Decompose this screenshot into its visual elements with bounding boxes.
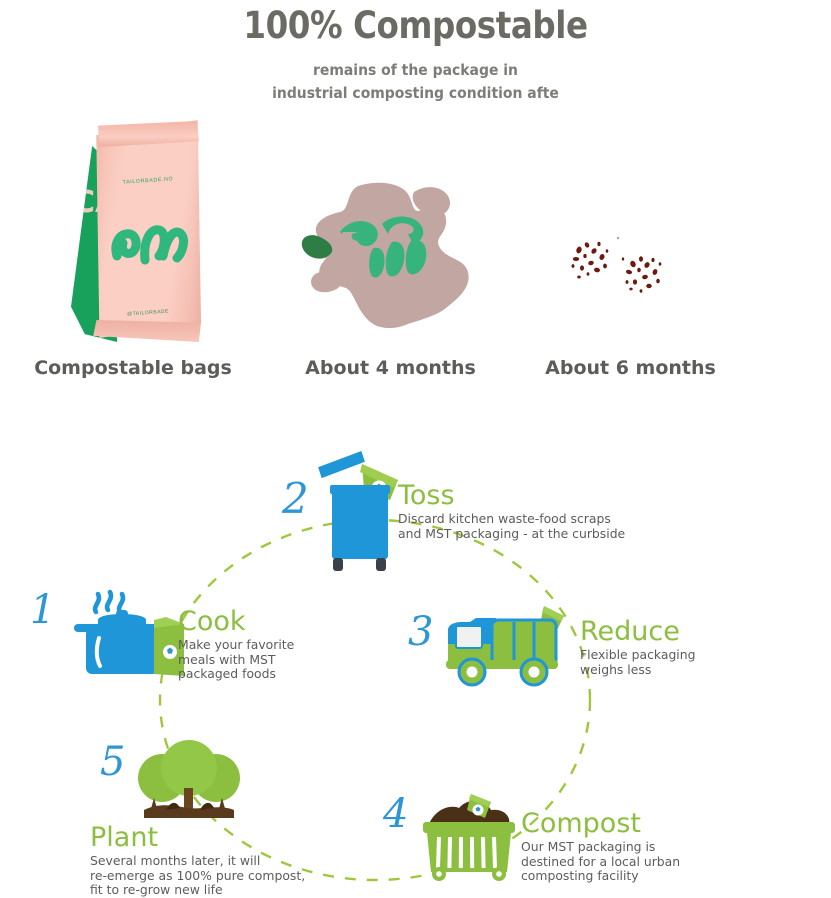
step-number-compost: 4 [383, 794, 408, 834]
stage-six-months: About 6 months [508, 118, 753, 350]
step-text-compost: Compost Our MST packaging is destined fo… [521, 810, 751, 884]
stage-compostable-bag: CARE TAILORBADE.NO @TAILORBADE Compostab… [8, 118, 258, 350]
subtitle-line-1: remains of the package in [42, 59, 790, 82]
step-body-toss: Discard kitchen waste-food scraps and MS… [398, 512, 728, 541]
page-title: 100% Compostable [50, 0, 781, 47]
step-heading-plant: Plant [90, 824, 380, 852]
compostable-bag-icon: CARE TAILORBADE.NO @TAILORBADE [71, 120, 201, 348]
step-heading-compost: Compost [521, 810, 751, 838]
step-number-reduce: 3 [408, 612, 433, 652]
trees-icon [136, 738, 242, 824]
cooking-pot-icon [50, 584, 190, 680]
compost-bin-icon [415, 790, 523, 886]
stage-label-bag: Compostable bags [34, 357, 232, 379]
step-body-compost: Our MST packaging is destined for a loca… [521, 840, 751, 884]
step-heading-cook: Cook [178, 608, 358, 636]
garbage-truck-icon [440, 600, 576, 690]
stage-art-four-months [268, 118, 513, 350]
stage-four-months: About 4 months [268, 118, 513, 350]
header: 100% Compostable remains of the package … [0, 0, 831, 105]
trash-bin-icon [306, 440, 412, 575]
step-text-plant: Plant Several months later, it will re-e… [90, 824, 380, 898]
lifecycle-diagram: 2 Toss Discard kitchen waste-food scraps… [0, 398, 831, 894]
stage-label-wrap-4mo: About 4 months [268, 357, 513, 379]
decomposing-fragments-icon [296, 180, 486, 335]
step-heading-toss: Toss [398, 482, 728, 510]
compost-specks-icon [561, 226, 701, 316]
decomposition-stage-row: CARE TAILORBADE.NO @TAILORBADE Compostab… [0, 118, 831, 393]
stage-label-wrap-6mo: About 6 months [508, 357, 753, 379]
stage-label-six-months: About 6 months [545, 357, 716, 379]
stage-label-four-months: About 4 months [305, 357, 476, 379]
step-heading-reduce: Reduce [580, 618, 760, 646]
stage-label-wrap-bag: Compostable bags [8, 357, 258, 379]
step-text-reduce: Reduce Flexible packaging weighs less [580, 618, 760, 677]
stage-art-six-months [508, 118, 753, 350]
step-body-reduce: Flexible packaging weighs less [580, 648, 760, 677]
step-number-plant: 5 [100, 742, 125, 782]
step-body-cook: Make your favorite meals with MST packag… [178, 638, 358, 682]
step-number-toss: 2 [282, 478, 309, 520]
step-body-plant: Several months later, it will re-emerge … [90, 854, 380, 898]
bag-logo-mark [107, 212, 191, 272]
stage-art-bag: CARE TAILORBADE.NO @TAILORBADE [8, 118, 258, 350]
subtitle: remains of the package in industrial com… [0, 59, 831, 105]
subtitle-line-2: industrial composting condition afte [42, 82, 790, 105]
step-text-toss: Toss Discard kitchen waste-food scraps a… [398, 482, 728, 541]
step-text-cook: Cook Make your favorite meals with MST p… [178, 608, 358, 682]
